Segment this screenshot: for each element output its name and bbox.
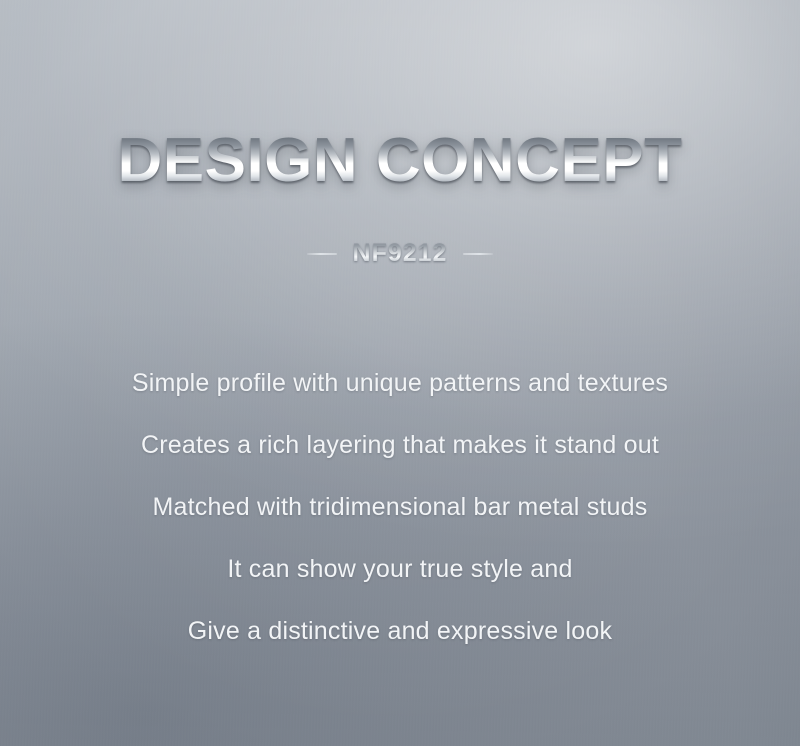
description-line: Matched with tridimensional bar metal st… — [0, 476, 800, 538]
title-container: DESIGN CONCEPT — [0, 128, 800, 193]
description-line: It can show your true style and — [0, 538, 800, 600]
divider-dash-right — [463, 253, 493, 255]
model-code-row: NF9212 — [0, 240, 800, 268]
description-line: Give a distinctive and expressive look — [0, 600, 800, 662]
page-title: DESIGN CONCEPT — [117, 128, 682, 193]
design-concept-banner: DESIGN CONCEPT NF9212 Simple profile wit… — [0, 0, 800, 746]
description-block: Simple profile with unique patterns and … — [0, 352, 800, 662]
model-code-label: NF9212 — [353, 240, 448, 268]
divider-dash-left — [307, 253, 337, 255]
banner-content: DESIGN CONCEPT NF9212 Simple profile wit… — [0, 0, 800, 746]
description-line: Creates a rich layering that makes it st… — [0, 414, 800, 476]
description-line: Simple profile with unique patterns and … — [0, 352, 800, 414]
